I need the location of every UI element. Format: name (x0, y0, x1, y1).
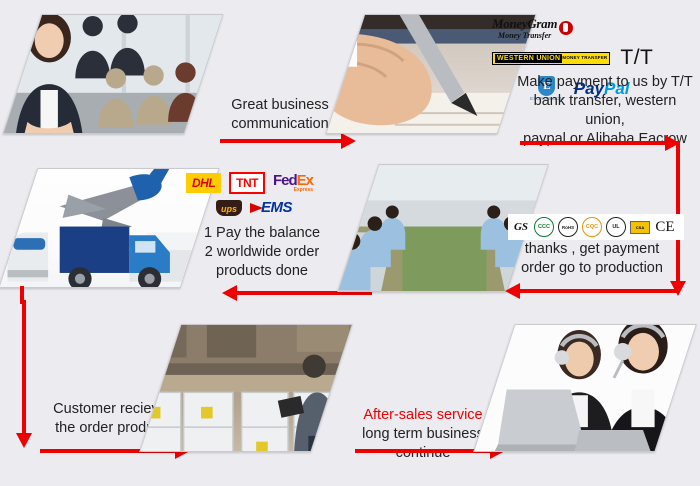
tnt-logo: TNT (229, 172, 265, 194)
step4-caption: 1 Pay the balance 2 worldwide order prod… (182, 224, 342, 281)
tt-logo: T/T (620, 46, 653, 70)
right-connector-elbow (536, 289, 678, 293)
payment-logos: MoneyGramMoney Transfer WESTERN UNIONMON… (492, 16, 692, 66)
arrow-step2-to-right-connector (520, 135, 680, 151)
dhl-logo: DHL (186, 173, 221, 193)
step1-image-panel (3, 14, 224, 134)
certification-logos: GS CCC RoHS CQC UL CSA CE (508, 214, 684, 240)
ems-logo: EMS (250, 199, 292, 216)
moneygram-logo: MoneyGramMoney Transfer (492, 16, 573, 40)
gs-mark: GS (512, 218, 530, 236)
warehouse-inspection-photo (139, 324, 353, 452)
ccc-mark: CCC (534, 217, 554, 237)
ul-mark: UL (606, 217, 626, 237)
step3-caption: thanks , get payment order go to product… (508, 240, 676, 278)
customer-service-photo (473, 324, 697, 452)
ce-mark: CE (654, 218, 676, 236)
step5-image-panel (139, 324, 353, 452)
arrow-step1-to-step2 (220, 133, 356, 149)
business-meeting-photo (3, 14, 224, 134)
arrow-left-connector-down (16, 300, 32, 448)
step6-caption-highlight: After-sales service (348, 406, 498, 425)
flowchart-canvas: Great business communication (0, 0, 700, 486)
cqc-mark: CQC (582, 217, 602, 237)
fedex-logo: FedExExpress (273, 173, 313, 193)
csa-mark: CSA (630, 221, 650, 234)
rohs-mark: RoHS (558, 217, 578, 237)
shipping-logos: DHL TNT FedExExpress ups EMS (186, 172, 334, 220)
western-union-logo: WESTERN UNIONMONEY TRANSFER (492, 52, 610, 65)
step6-image-panel (473, 324, 697, 452)
ups-logo: ups (216, 200, 242, 216)
arrow-right-connector-to-step3 (505, 283, 545, 299)
